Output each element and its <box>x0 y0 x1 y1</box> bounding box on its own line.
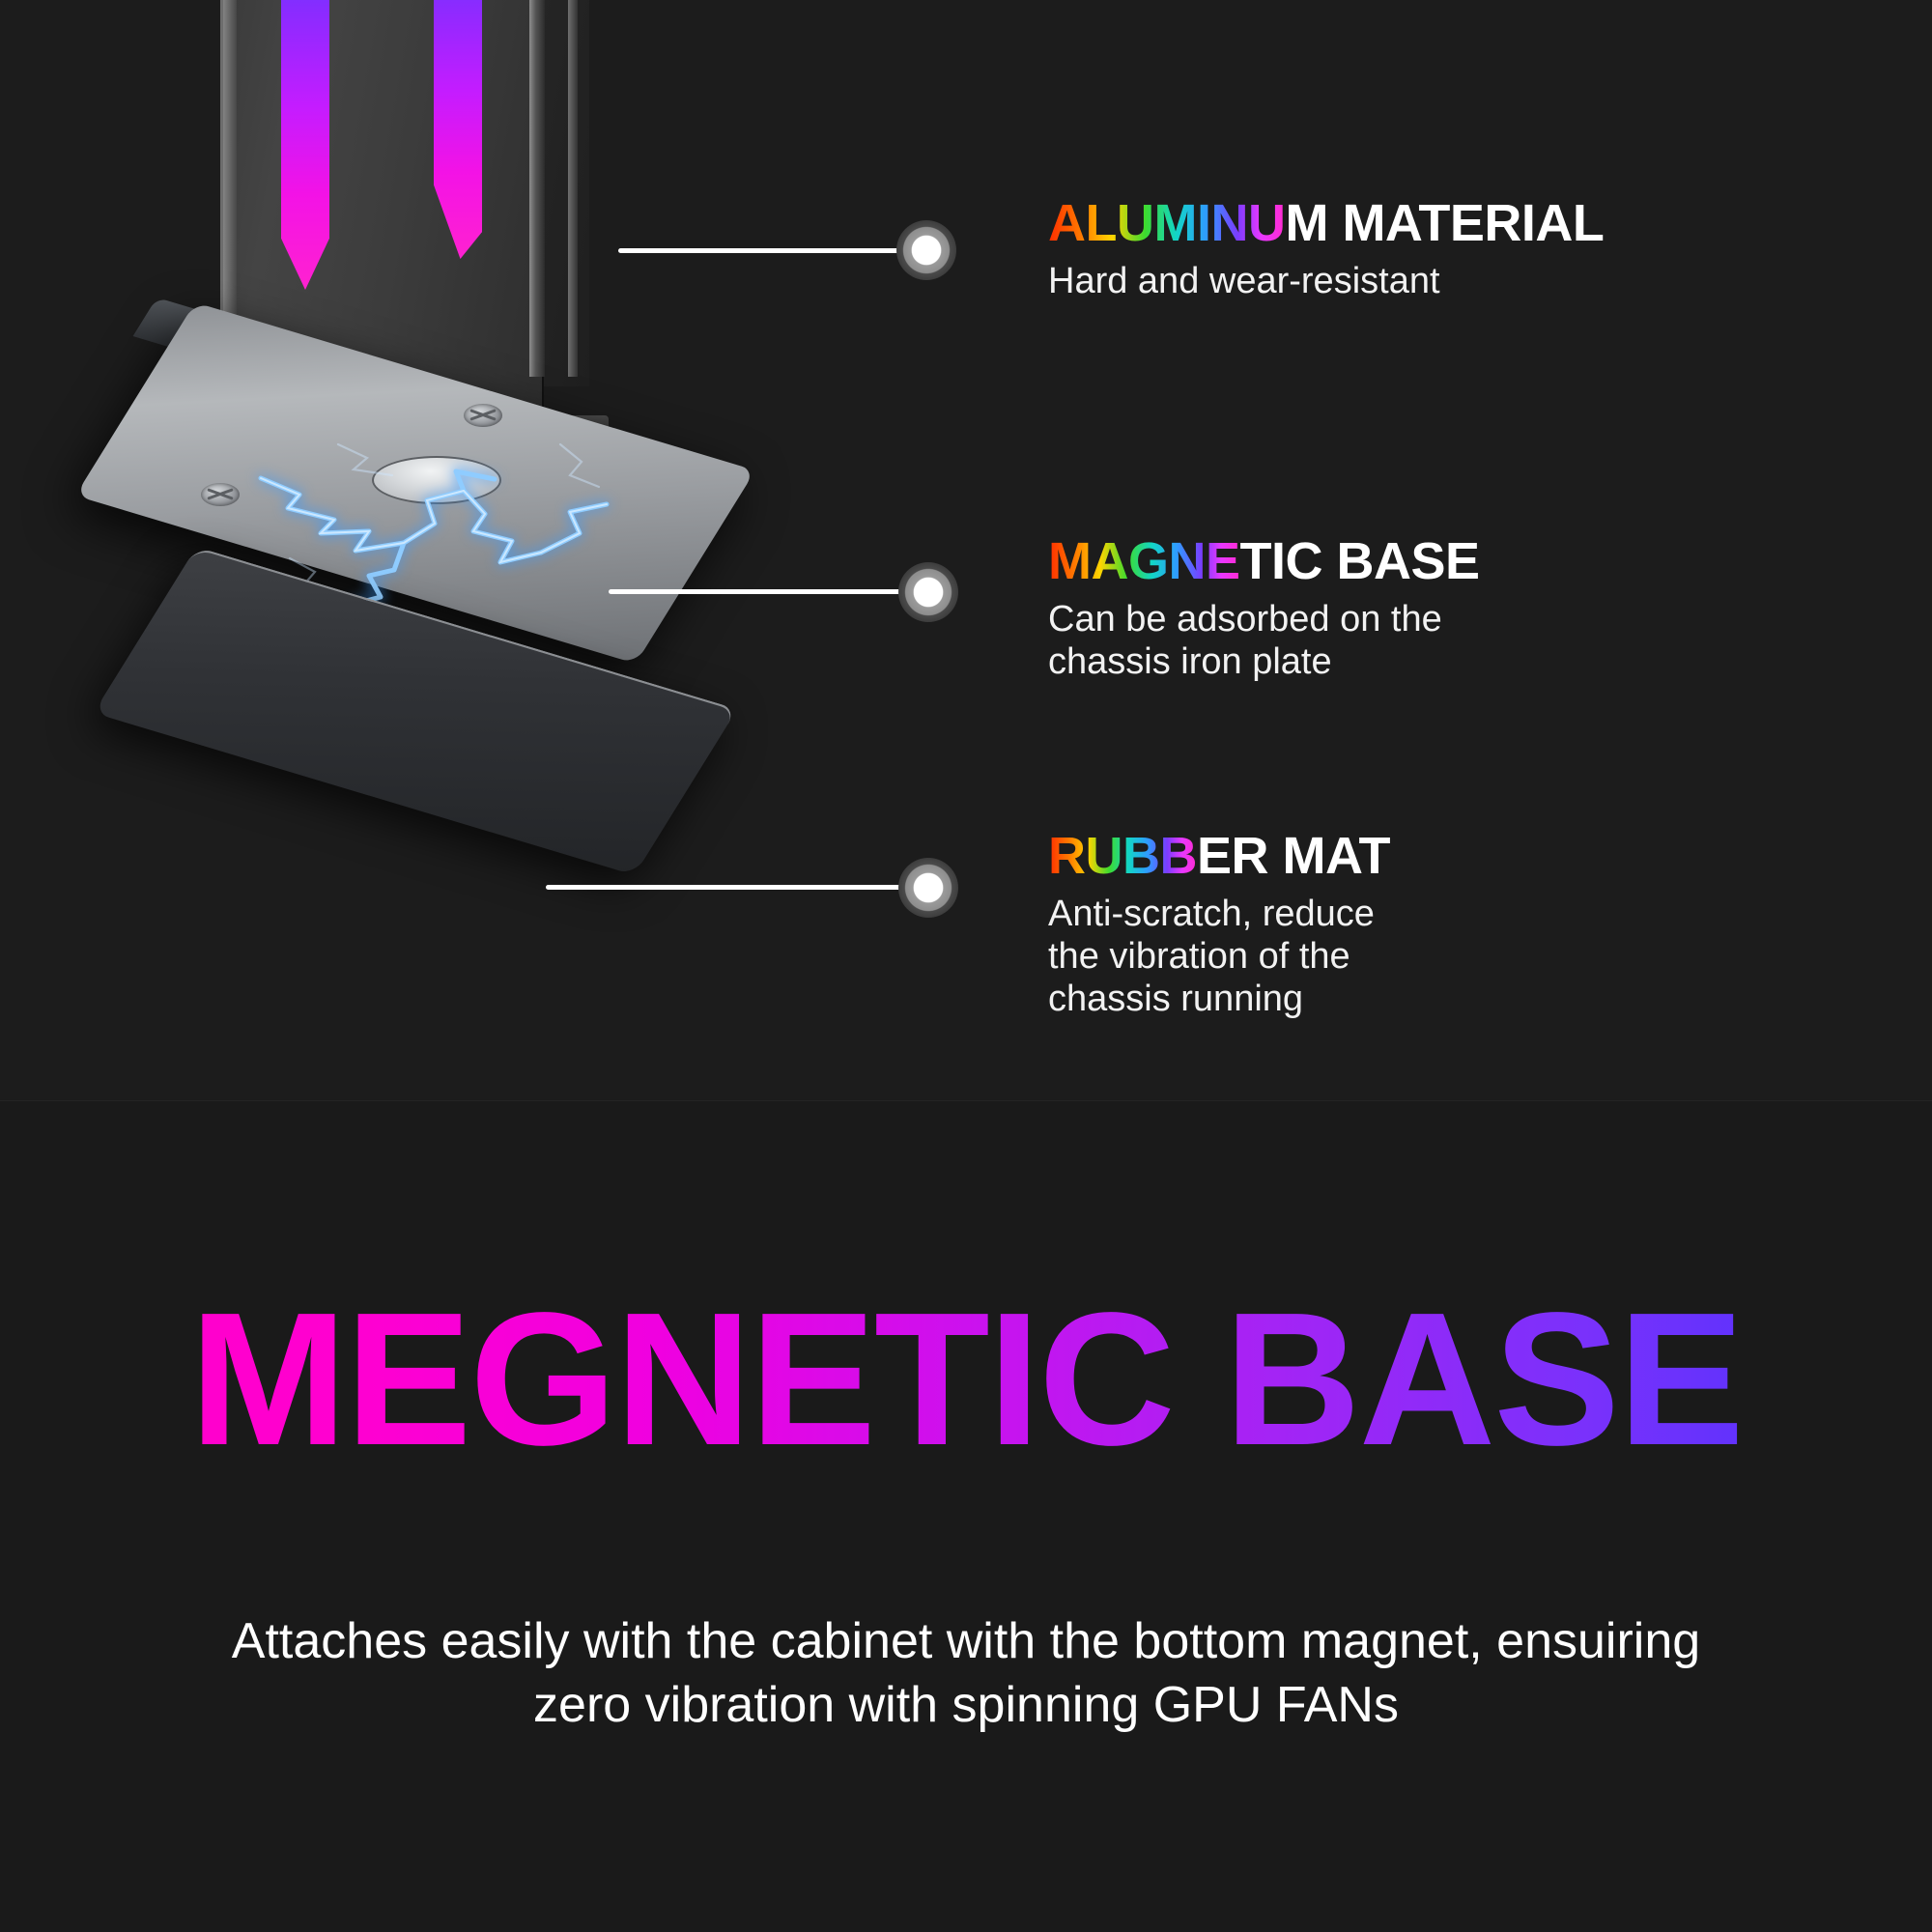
callout-title: RUBBER MAT <box>1048 829 1390 883</box>
callout-title-colored: MAGNE <box>1048 532 1240 590</box>
rgb-light-strip-right <box>434 0 482 259</box>
callout-description: Hard and wear-resistant <box>1048 260 1604 302</box>
rgb-light-strip-left <box>281 0 329 290</box>
callout-title: ALUMINUM MATERIAL <box>1048 196 1604 250</box>
bracket-rail-inner <box>568 0 578 377</box>
lower-hero-panel <box>0 1101 1932 1932</box>
leader-dot <box>898 858 958 918</box>
callout-title: MAGNETIC BASE <box>1048 534 1480 588</box>
callout-title-colored: RUBB <box>1048 827 1197 885</box>
product-illustration <box>0 0 831 1024</box>
leader-dot <box>898 562 958 622</box>
hero-title: MEGNETIC BASE <box>0 1285 1932 1474</box>
callout-title-colored: ALUMINU <box>1048 194 1285 252</box>
leader-line <box>546 885 918 890</box>
callout-title-plain: ER MAT <box>1197 827 1390 885</box>
callout-title-plain: M MATERIAL <box>1285 194 1604 252</box>
leader-line <box>609 589 916 594</box>
leader-dot <box>896 220 956 280</box>
callout-description: Can be adsorbed on the chassis iron plat… <box>1048 598 1480 683</box>
callout-description: Anti-scratch, reduce the vibration of th… <box>1048 893 1390 1020</box>
bracket-rail-outer <box>529 0 545 377</box>
callout-title-plain: TIC BASE <box>1240 532 1480 590</box>
callout-text-block: RUBBER MAT Anti-scratch, reduce the vibr… <box>1048 829 1390 1020</box>
callout-text-block: ALUMINUM MATERIAL Hard and wear-resistan… <box>1048 196 1604 302</box>
hero-subtitle: Attaches easily with the cabinet with th… <box>184 1610 1748 1737</box>
product-feature-poster: ALUMINUM MATERIAL Hard and wear-resistan… <box>0 0 1932 1932</box>
leader-line <box>618 248 908 253</box>
callout-text-block: MAGNETIC BASE Can be adsorbed on the cha… <box>1048 534 1480 683</box>
